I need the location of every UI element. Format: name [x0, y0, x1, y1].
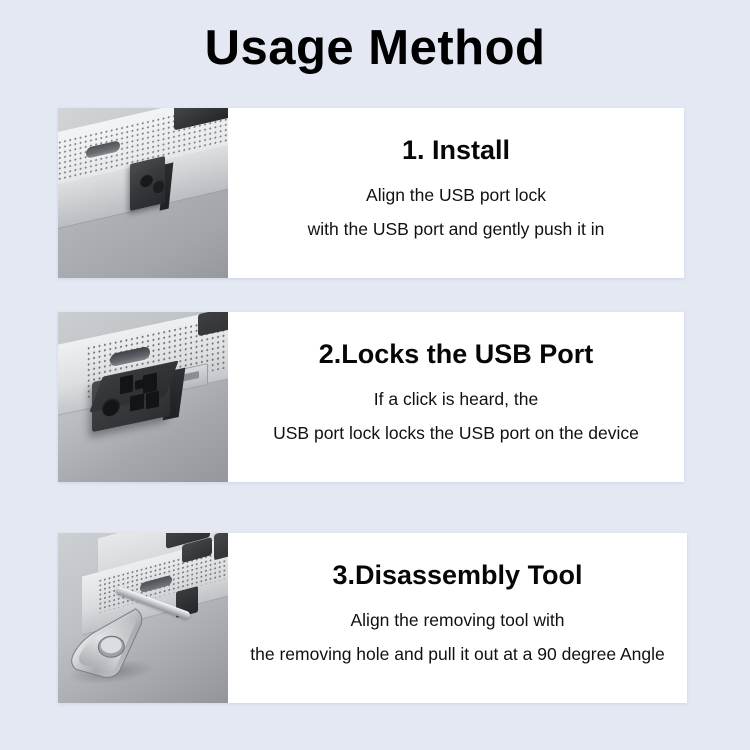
step-card-1: 1. Install Align the USB port lock with …	[58, 108, 684, 278]
step-3-line-2: the removing hole and pull it out at a 9…	[250, 637, 664, 671]
step-3-line-1: Align the removing tool with	[351, 603, 565, 637]
step-2-title: 2.Locks the USB Port	[319, 340, 594, 370]
step-3-title: 3.Disassembly Tool	[332, 561, 582, 591]
step-3-photo	[58, 533, 228, 703]
lock-key-slot	[146, 391, 159, 410]
keyboard-key	[214, 533, 228, 560]
removal-tool-head	[64, 602, 151, 682]
step-1-title: 1. Install	[402, 136, 510, 166]
step-card-3: 3.Disassembly Tool Align the removing to…	[58, 533, 687, 703]
step-2-text: 2.Locks the USB Port If a click is heard…	[228, 312, 684, 482]
step-1-line-2: with the USB port and gently push it in	[308, 212, 605, 246]
step-3-text: 3.Disassembly Tool Align the removing to…	[228, 533, 687, 703]
step-2-line-2: USB port lock locks the USB port on the …	[273, 416, 639, 450]
step-card-2: 2.Locks the USB Port If a click is heard…	[58, 312, 684, 482]
page-title: Usage Method	[0, 22, 750, 76]
lock-key-slot	[130, 394, 144, 412]
lock-key-slot	[120, 375, 133, 395]
step-1-photo	[58, 108, 228, 278]
step-1-line-1: Align the USB port lock	[366, 178, 546, 212]
step-2-line-1: If a click is heard, the	[374, 382, 538, 416]
step-2-photo	[58, 312, 228, 482]
step-1-text: 1. Install Align the USB port lock with …	[228, 108, 684, 278]
